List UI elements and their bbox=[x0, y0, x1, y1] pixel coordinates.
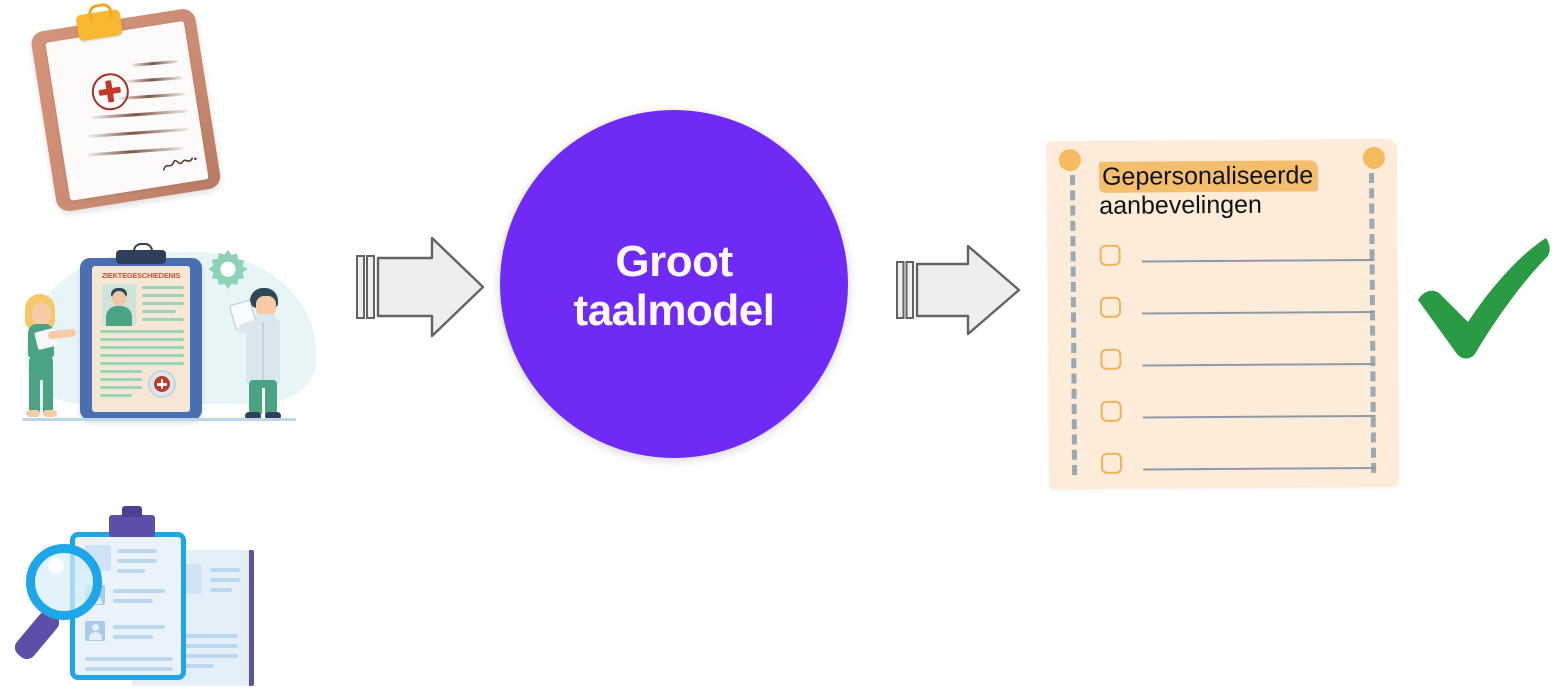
history-clipboard: ZIEKTEGESCHIEDENIS bbox=[80, 258, 202, 420]
checkbox-icon[interactable] bbox=[1101, 452, 1122, 473]
recommendations-heading: Gepersonaliseerde aanbevelingen bbox=[1099, 161, 1369, 221]
patient-photo bbox=[102, 284, 136, 326]
panel-dot-left bbox=[1059, 149, 1081, 171]
scene-floor-line bbox=[22, 418, 296, 421]
magnifier-icon bbox=[26, 544, 102, 620]
list-item[interactable] bbox=[1101, 435, 1376, 489]
list-item[interactable] bbox=[1100, 331, 1375, 385]
item-placeholder-line bbox=[1142, 259, 1375, 263]
recommendations-heading-highlight: Gepersonaliseerde bbox=[1099, 160, 1318, 193]
magnifier-shine bbox=[48, 558, 64, 574]
checkbox-icon[interactable] bbox=[1100, 296, 1121, 317]
clipboard-clip bbox=[116, 250, 166, 264]
list-item[interactable] bbox=[1100, 383, 1375, 437]
signature-icon bbox=[161, 154, 199, 173]
item-placeholder-line bbox=[1142, 311, 1375, 315]
red-cross-icon bbox=[89, 71, 131, 113]
checkbox-icon[interactable] bbox=[1101, 400, 1122, 421]
doctor-figure bbox=[236, 288, 296, 422]
clipboard-clip bbox=[109, 515, 155, 537]
list-item[interactable] bbox=[1100, 279, 1375, 333]
magnifier-report-illustration: Beeldvormingsverslag bbox=[14, 500, 314, 688]
recommendations-panel: Gepersonaliseerde aanbevelingen bbox=[1047, 139, 1399, 489]
checkbox-icon[interactable] bbox=[1100, 348, 1121, 369]
clipboard-paper bbox=[45, 21, 208, 201]
item-placeholder-line bbox=[1143, 467, 1376, 471]
check-icon bbox=[1412, 236, 1552, 362]
llm-node[interactable]: Groot taalmodel bbox=[500, 110, 848, 458]
history-sheet-title: ZIEKTEGESCHIEDENIS bbox=[96, 271, 186, 280]
llm-label: Groot taalmodel bbox=[574, 237, 775, 336]
clipboard-medical-icon bbox=[20, 0, 245, 218]
nurse-figure bbox=[18, 294, 74, 422]
panel-stitch-left bbox=[1070, 175, 1077, 475]
item-placeholder-line bbox=[1142, 363, 1375, 367]
diagram-canvas: ZIEKTEGESCHIEDENIS bbox=[0, 0, 1552, 688]
history-sheet: ZIEKTEGESCHIEDENIS bbox=[92, 266, 190, 412]
checkbox-icon[interactable] bbox=[1100, 244, 1121, 265]
recommendations-heading-rest: aanbevelingen bbox=[1099, 191, 1262, 220]
item-placeholder-line bbox=[1143, 415, 1376, 419]
recommendations-list bbox=[1099, 227, 1376, 489]
list-item[interactable] bbox=[1099, 227, 1374, 281]
arrow-inputs-to-model bbox=[356, 236, 486, 338]
medical-history-illustration: ZIEKTEGESCHIEDENIS bbox=[8, 236, 320, 436]
arrow-model-to-output bbox=[896, 244, 1022, 336]
medical-cross-badge bbox=[148, 370, 176, 398]
